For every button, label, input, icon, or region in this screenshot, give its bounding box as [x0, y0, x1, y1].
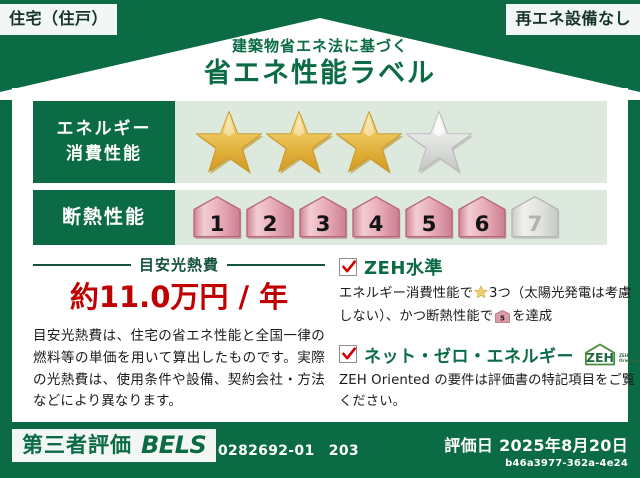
- rule-left: [33, 264, 131, 266]
- svg-text:ZEH: ZEH: [586, 350, 614, 365]
- zeh-column: ZEH水準 エネルギー消費性能で3つ（太陽光発電は考慮しない）、かつ断熱性能で5…: [325, 254, 640, 410]
- bels-logo: BELS: [141, 433, 206, 457]
- svg-text:3: 3: [316, 211, 331, 236]
- utility-cost-value: 約11.0万円 / 年: [33, 282, 325, 314]
- row-energy-label: エネルギー 消費性能: [33, 101, 175, 183]
- row-energy-performance: エネルギー 消費性能: [33, 101, 607, 183]
- svg-text:1: 1: [210, 211, 225, 236]
- house-empty-icon: 7: [509, 195, 561, 241]
- zeh-oriented-caption-line1: ZEH: [619, 353, 628, 358]
- svg-text:6: 6: [475, 211, 490, 236]
- zeh-standard-title-row: ZEH水準: [339, 254, 640, 280]
- tag-building-type: 住宅（住戸）: [0, 4, 117, 35]
- checkbox-net-zero-energy[interactable]: [339, 345, 357, 363]
- star-rating: [195, 109, 473, 175]
- house-filled-icon: 1: [191, 195, 243, 241]
- evaluation-hash: b46a3977-362a-4e24: [444, 458, 628, 469]
- label-body-card: エネルギー 消費性能 断熱性能 1234567 目安光熱費 約11.0万: [12, 88, 628, 422]
- inline-house-badge: 5: [495, 309, 510, 330]
- evaluation-date: 評価日 2025年8月20日: [444, 432, 628, 456]
- row-insulation-performance: 断熱性能 1234567: [33, 190, 607, 245]
- row-energy-field: [175, 101, 607, 183]
- third-party-evaluation-label: 第三者評価: [22, 435, 132, 456]
- house-filled-icon: 4: [350, 195, 402, 241]
- bels-plate: 第三者評価 BELS: [12, 429, 216, 462]
- svg-text:2: 2: [263, 211, 278, 236]
- net-zero-body: ZEH Oriented の要件は評価書の特記項目をご覧ください。: [339, 370, 640, 413]
- row-energy-label-line2: 消費性能: [66, 142, 142, 167]
- rule-right: [227, 264, 325, 266]
- footer-bar: 第三者評価 BELS 0282692-01 203 評価日 2025年8月20日…: [0, 422, 640, 478]
- checkbox-zeh-standard[interactable]: [339, 258, 357, 276]
- zeh-oriented-caption: ZEH Oriented: [619, 353, 640, 364]
- svg-text:7: 7: [528, 211, 543, 236]
- energy-performance-label: 住宅（住戸） 再エネ設備なし 建築物省エネ法に基づく 省エネ性能ラベル エネルギ…: [0, 0, 640, 478]
- zeh-standard-body-post: を達成: [512, 309, 552, 324]
- tag-renewable-equipment: 再エネ設備なし: [506, 4, 640, 35]
- svg-text:4: 4: [369, 211, 384, 236]
- svg-text:5: 5: [422, 211, 437, 236]
- house-rating: 1234567: [191, 195, 561, 241]
- star-empty-icon: [405, 109, 473, 175]
- star-filled-icon: [265, 109, 333, 175]
- row-energy-label-line1: エネルギー: [57, 117, 152, 142]
- evaluation-info: 評価日 2025年8月20日 b46a3977-362a-4e24: [444, 432, 628, 469]
- zeh-standard-title: ZEH水準: [364, 254, 443, 280]
- svg-text:5: 5: [500, 315, 505, 323]
- zeh-standard-body-pre: エネルギー消費性能で: [339, 286, 473, 301]
- row-insulation-label: 断熱性能: [33, 190, 175, 245]
- star-filled-icon: [195, 109, 263, 175]
- utility-cost-note: 目安光熱費は、住宅の省エネ性能と全国一律の燃料等の単価を用いて算出したものです。…: [33, 326, 325, 413]
- house-filled-icon: 6: [456, 195, 508, 241]
- inline-star-icon: [474, 285, 488, 306]
- house-filled-icon: 5: [403, 195, 455, 241]
- zeh-standard-block: ZEH水準 エネルギー消費性能で3つ（太陽光発電は考慮しない）、かつ断熱性能で5…: [339, 254, 640, 331]
- zeh-house-badge-icon: ZEH: [583, 342, 617, 367]
- zeh-oriented-caption-line2: Oriented: [619, 358, 640, 363]
- check-icon: [341, 259, 357, 275]
- star-filled-icon: [335, 109, 403, 175]
- net-zero-title-row: ネット・ゼロ・エネルギー ZEH ZEH Oriented: [339, 342, 640, 367]
- row-insulation-field: 1234567: [175, 190, 607, 245]
- utility-cost-column: 目安光熱費 約11.0万円 / 年 目安光熱費は、住宅の省エネ性能と全国一律の燃…: [33, 254, 325, 410]
- zeh-spacer: [339, 333, 640, 342]
- net-zero-energy-block: ネット・ゼロ・エネルギー ZEH ZEH Oriented: [339, 342, 640, 413]
- utility-cost-heading: 目安光熱費: [33, 254, 325, 275]
- house-filled-icon: 3: [297, 195, 349, 241]
- net-zero-title: ネット・ゼロ・エネルギー: [364, 342, 574, 367]
- detail-columns: 目安光熱費 約11.0万円 / 年 目安光熱費は、住宅の省エネ性能と全国一律の燃…: [33, 254, 619, 410]
- registration-number: 0282692-01 203: [218, 440, 359, 460]
- utility-cost-heading-text: 目安光熱費: [139, 254, 219, 275]
- house-filled-icon: 2: [244, 195, 296, 241]
- zeh-oriented-badge: ZEH ZEH Oriented: [583, 342, 640, 367]
- zeh-standard-body: エネルギー消費性能で3つ（太陽光発電は考慮しない）、かつ断熱性能で5を達成: [339, 283, 640, 331]
- check-icon: [341, 346, 357, 362]
